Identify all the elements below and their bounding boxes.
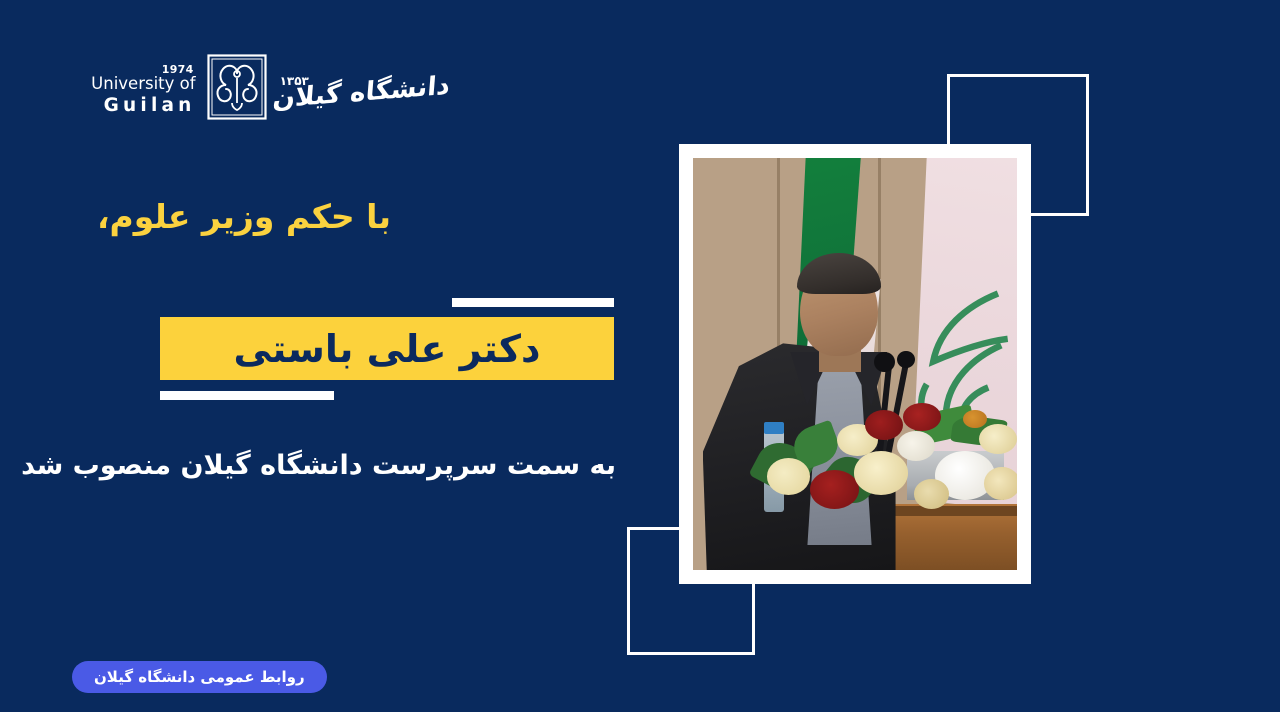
public-relations-badge[interactable]: روابط عمومی دانشگاه گیلان bbox=[72, 661, 327, 693]
accent-line-top bbox=[452, 298, 614, 307]
white-flower bbox=[897, 431, 935, 461]
red-rose bbox=[810, 470, 859, 509]
guilan-university-emblem-icon bbox=[206, 53, 268, 121]
public-relations-badge-label: روابط عمومی دانشگاه گیلان bbox=[94, 670, 305, 685]
announcement-poster: ۱۳۵۳ دانشگاه گیلان 1974 University of Gu… bbox=[0, 0, 1280, 712]
headline-eyebrow: با حکم وزیر علوم، bbox=[97, 196, 617, 237]
photo-frame bbox=[679, 144, 1031, 584]
speaker-at-podium-photo bbox=[693, 158, 1017, 570]
headline-subtitle: به سمت سرپرست دانشگاه گیلان منصوب شد bbox=[112, 448, 616, 483]
person-name: دکتر علی باستی bbox=[234, 330, 541, 368]
red-rose bbox=[903, 403, 941, 431]
cream-flower bbox=[767, 458, 811, 495]
logo-english-line2: Guilan bbox=[104, 97, 196, 116]
cream-flower bbox=[914, 479, 949, 509]
logo-persian-text: ۱۳۵۳ دانشگاه گیلان bbox=[274, 50, 408, 124]
university-logo: ۱۳۵۳ دانشگاه گیلان 1974 University of Gu… bbox=[88, 44, 408, 130]
microphone-head-2 bbox=[897, 351, 915, 368]
red-rose bbox=[865, 410, 903, 440]
highlighted-name-bar: دکتر علی باستی bbox=[160, 317, 614, 380]
yellow-lily bbox=[854, 451, 908, 495]
logo-english-line1: University of bbox=[91, 76, 195, 93]
logo-english-text: 1974 University of Guilan bbox=[88, 52, 200, 122]
accent-line-bottom bbox=[160, 391, 334, 400]
cream-flower bbox=[984, 467, 1017, 499]
cream-flower bbox=[979, 424, 1017, 454]
flower-bouquet bbox=[745, 405, 1017, 520]
